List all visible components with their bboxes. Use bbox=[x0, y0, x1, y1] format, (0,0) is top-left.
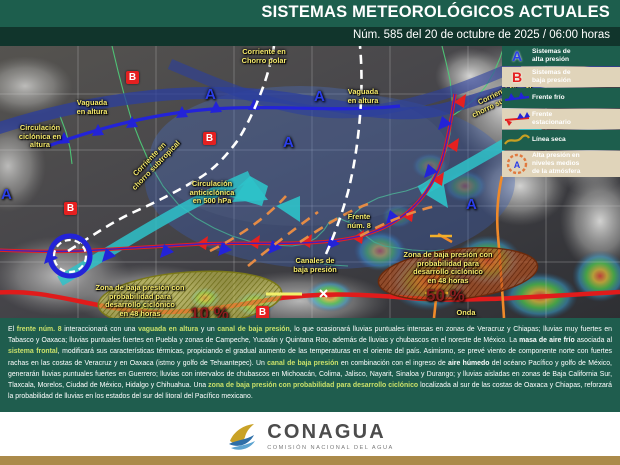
footer: CONAGUA COMISIÓN NACIONAL DEL AGUA bbox=[0, 412, 620, 465]
probability-caribbean-value: 50 % bbox=[426, 286, 465, 306]
bulletin-number-date: Núm. 585 del 20 de octubre de 2025 / 06:… bbox=[353, 29, 610, 41]
cold-front-icon bbox=[502, 88, 532, 108]
weather-bulletin-page: SISTEMAS METEOROLÓGICOS ACTUALES Núm. 58… bbox=[0, 0, 620, 465]
legend-label-dry-line: Línea seca bbox=[532, 136, 569, 144]
mid-level-high-icon: A bbox=[502, 154, 532, 174]
discussion-text: El frente núm. 8 interaccionará con una … bbox=[8, 324, 612, 402]
svg-text:A: A bbox=[514, 160, 521, 170]
legend-label-stationary-front: Frente estacionario bbox=[532, 111, 574, 127]
high-marker-4: A bbox=[1, 186, 12, 203]
letter-a-blue-icon: A bbox=[502, 46, 532, 66]
legend-item-mid-level-high: A Alta presión en niveles medios de la a… bbox=[502, 151, 620, 177]
high-marker-3: A bbox=[283, 134, 294, 151]
discussion-panel: El frente núm. 8 interaccionará con una … bbox=[0, 318, 620, 412]
page-title: SISTEMAS METEOROLÓGICOS ACTUALES bbox=[261, 3, 610, 22]
footer-gold-bar bbox=[0, 456, 620, 465]
conagua-eagle-water-icon bbox=[226, 419, 260, 453]
legend-label-mid-level-high: Alta presión en niveles medios de la atm… bbox=[532, 152, 583, 175]
stationary-front-icon bbox=[502, 109, 532, 129]
conagua-logo: CONAGUA COMISIÓN NACIONAL DEL AGUA bbox=[226, 419, 394, 453]
logo-subtitle: COMISIÓN NACIONAL DEL AGUA bbox=[267, 445, 394, 451]
legend-item-high-pressure: A Sistemas de alta presión bbox=[502, 46, 620, 66]
low-marker-1: B bbox=[126, 71, 139, 84]
high-marker-1: A bbox=[205, 86, 216, 103]
logo-title: CONAGUA bbox=[267, 421, 394, 444]
legend-label-cold-front: Frente frío bbox=[532, 94, 568, 102]
probability-pacific-value: 10 % bbox=[190, 304, 229, 318]
high-marker-2: A bbox=[314, 88, 325, 105]
legend-item-cold-front: Frente frío bbox=[502, 88, 620, 108]
map-legend: A Sistemas de alta presión B Sistemas de… bbox=[502, 46, 620, 178]
low-marker-4: B bbox=[256, 306, 269, 318]
legend-label-high-pressure: Sistemas de alta presión bbox=[532, 48, 573, 64]
high-marker-5: A bbox=[466, 196, 477, 213]
letter-b-red-icon: B bbox=[502, 67, 532, 87]
legend-item-low-pressure: B Sistemas de baja presión bbox=[502, 67, 620, 87]
legend-item-dry-line: Línea seca bbox=[502, 130, 620, 150]
dry-line-icon bbox=[502, 130, 532, 150]
legend-item-stationary-front: Frente estacionario bbox=[502, 109, 620, 129]
low-marker-2: B bbox=[64, 202, 77, 215]
legend-label-low-pressure: Sistemas de baja presión bbox=[532, 69, 574, 85]
low-marker-3: B bbox=[203, 132, 216, 145]
